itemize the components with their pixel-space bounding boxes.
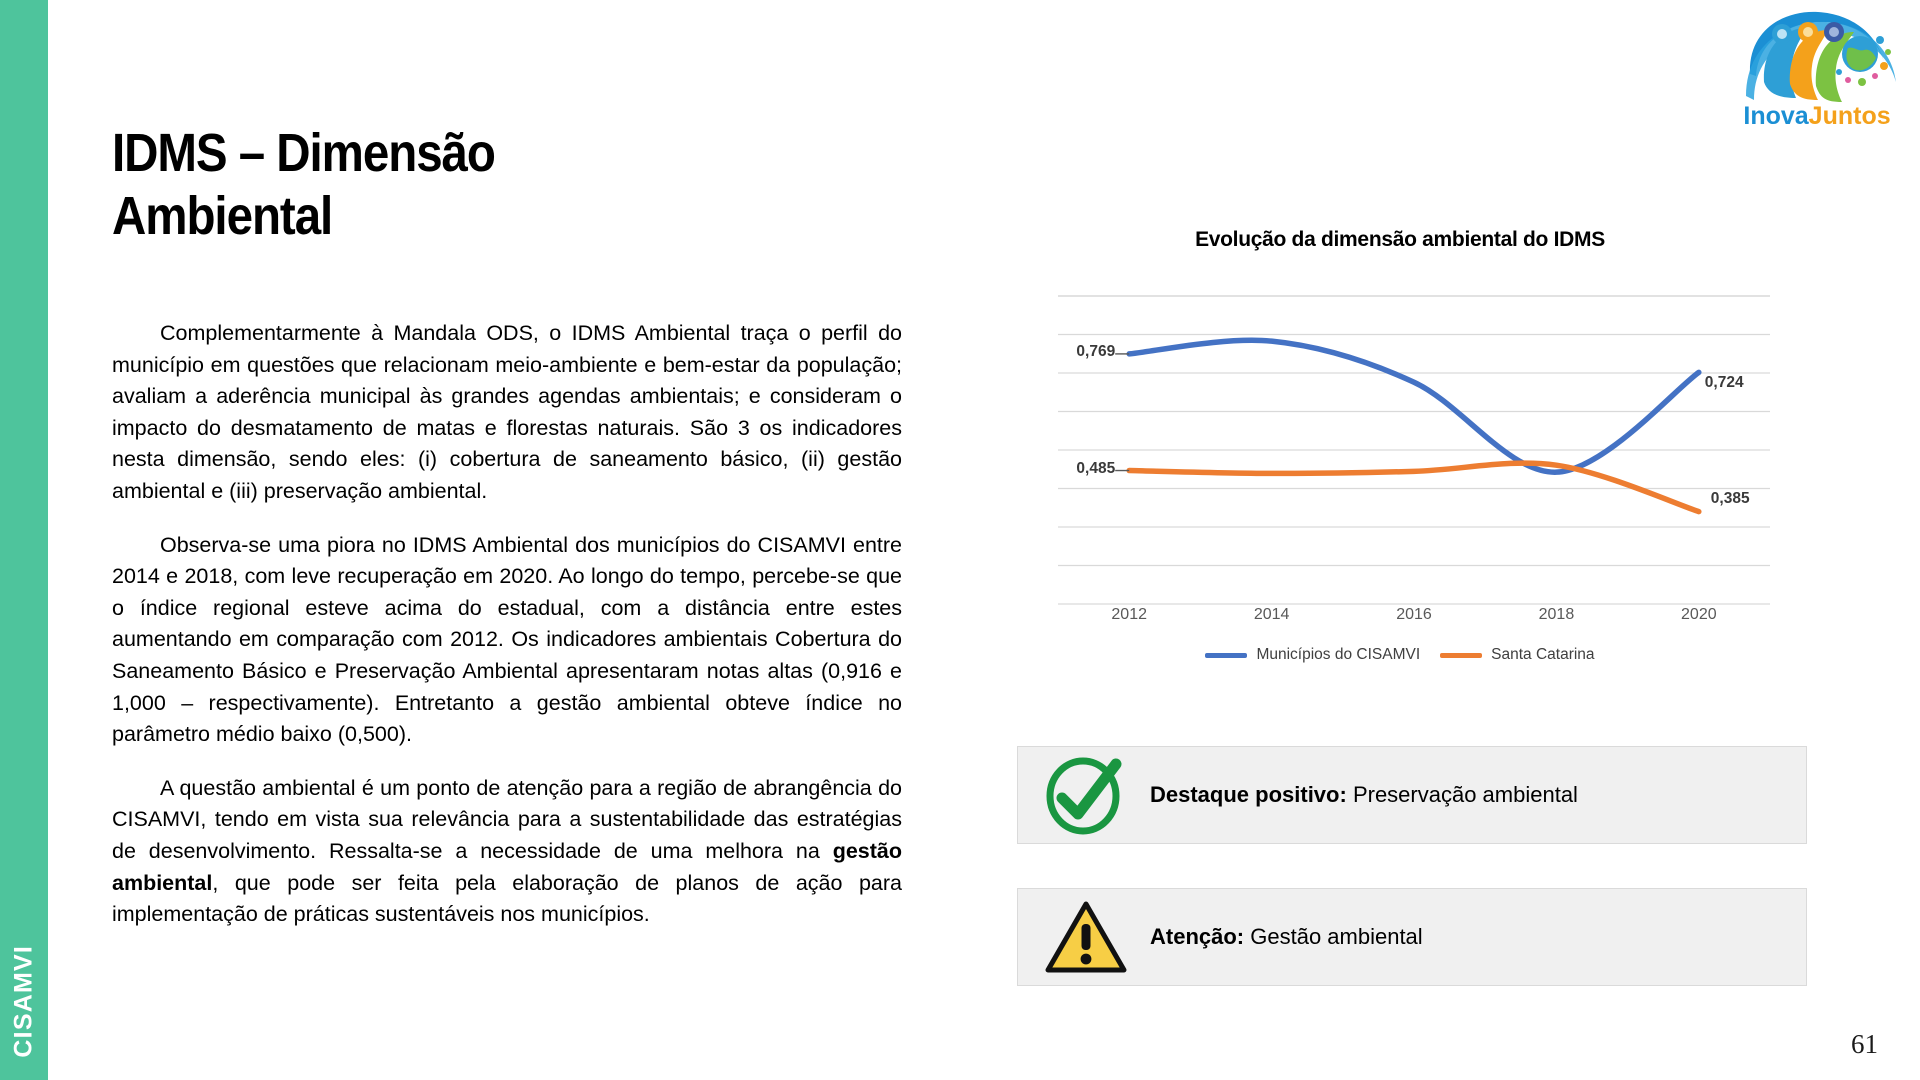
data-label-cisamvi-last: 0,724	[1705, 374, 1744, 392]
green-check-circle-icon	[1040, 754, 1132, 836]
page-title: IDMS – Dimensão Ambiental	[112, 122, 675, 248]
paragraph-2: Observa-se uma piora no IDMS Ambiental d…	[112, 530, 902, 751]
paragraph-1: Complementarmente à Mandala ODS, o IDMS …	[112, 318, 902, 508]
callout-positive: Destaque positivo: Preservação ambiental	[1017, 746, 1807, 844]
svg-text:InovaJuntos: InovaJuntos	[1743, 102, 1890, 130]
chart-x-tick: 2014	[1200, 606, 1342, 634]
page-title-line2: Ambiental	[112, 185, 675, 248]
paragraph-3-part2: , que pode ser feita pela elaboração de …	[112, 871, 902, 927]
legend-label: Santa Catarina	[1491, 646, 1594, 664]
callout-warning-label: Atenção:	[1150, 924, 1244, 949]
callout-positive-text: Destaque positivo: Preservação ambiental	[1150, 782, 1578, 808]
yellow-warning-triangle-icon	[1040, 896, 1132, 978]
body-text: Complementarmente à Mandala ODS, o IDMS …	[112, 318, 902, 931]
data-label-sc-last: 0,385	[1711, 490, 1750, 508]
data-label-cisamvi-first: 0,769	[1076, 343, 1115, 361]
chart-title: Evolução da dimensão ambiental do IDMS	[1030, 228, 1770, 252]
chart-line-series	[1129, 340, 1699, 472]
inova-juntos-logo: InovaJuntos	[1732, 4, 1902, 132]
chart-x-tick: 2020	[1628, 606, 1770, 634]
line-chart: Evolução da dimensão ambiental do IDMS 0…	[1030, 228, 1770, 728]
left-sidebar: CISAMVI	[0, 0, 48, 1080]
chart-x-axis: 20122014201620182020	[1058, 606, 1770, 634]
paragraph-3-part1: A questão ambiental é um ponto de atençã…	[112, 776, 902, 863]
callout-positive-label: Destaque positivo:	[1150, 782, 1347, 807]
chart-line-series	[1129, 463, 1699, 511]
legend-label: Municípios do CISAMVI	[1256, 646, 1420, 664]
legend-color-swatch	[1205, 653, 1247, 658]
chart-x-tick: 2018	[1485, 606, 1627, 634]
paragraph-3: A questão ambiental é um ponto de atençã…	[112, 773, 902, 931]
chart-legend-item[interactable]: Santa Catarina	[1440, 646, 1594, 664]
chart-legend: Municípios do CISAMVISanta Catarina	[1030, 646, 1770, 664]
chart-x-tick: 2012	[1058, 606, 1200, 634]
page-number: 61	[1851, 1029, 1878, 1060]
legend-color-swatch	[1440, 653, 1482, 658]
callout-warning-value: Gestão ambiental	[1250, 924, 1422, 949]
slide-page: CISAMVI InovaJuntos	[0, 0, 1920, 1080]
chart-legend-item[interactable]: Municípios do CISAMVI	[1205, 646, 1420, 664]
data-label-sc-first: 0,485	[1076, 460, 1115, 478]
chart-gridlines	[1058, 296, 1770, 604]
page-title-line1: IDMS – Dimensão	[112, 122, 675, 185]
chart-plot-area: 0,769 0,724 0,485 0,385	[1058, 296, 1770, 604]
chart-x-tick: 2016	[1343, 606, 1485, 634]
callout-positive-value: Preservação ambiental	[1353, 782, 1578, 807]
chart-series	[1115, 340, 1699, 511]
callout-warning: Atenção: Gestão ambiental	[1017, 888, 1807, 986]
callout-warning-text: Atenção: Gestão ambiental	[1150, 924, 1423, 950]
sidebar-label: CISAMVI	[10, 945, 39, 1058]
